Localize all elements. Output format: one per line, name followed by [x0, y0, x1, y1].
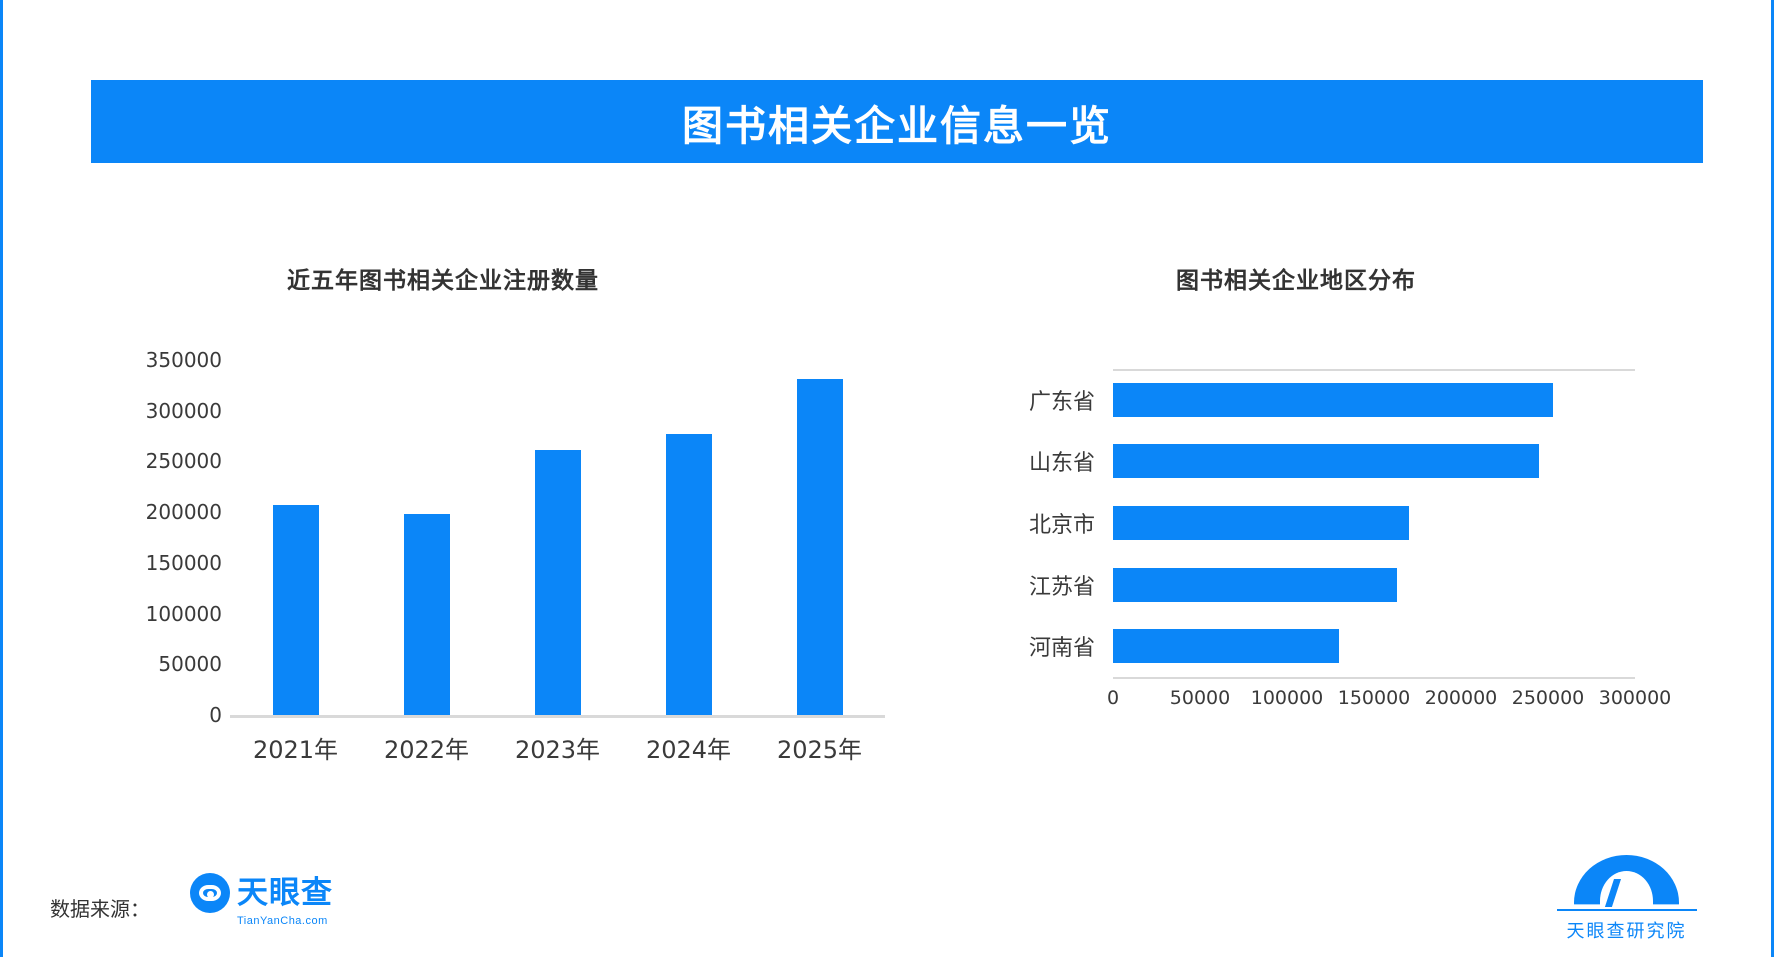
registrations-y-tick: 0	[209, 703, 222, 727]
region-category-label: 江苏省	[985, 569, 1113, 601]
registrations-bar-slot	[625, 360, 753, 715]
region-x-tick: 50000	[1170, 687, 1230, 709]
region-chart-title: 图书相关企业地区分布	[1176, 261, 1416, 295]
region-bar	[1113, 444, 1539, 478]
page-title: 图书相关企业信息一览	[682, 92, 1112, 152]
region-category-label: 北京市	[985, 507, 1113, 539]
region-x-tick: 100000	[1251, 687, 1324, 709]
region-category-label: 广东省	[985, 384, 1113, 416]
region-x-tick: 150000	[1338, 687, 1411, 709]
region-x-tick: 200000	[1425, 687, 1498, 709]
region-x-axis-line	[1113, 677, 1635, 679]
registrations-bar	[273, 505, 319, 715]
region-bar	[1113, 383, 1553, 417]
region-bar-row: 山东省	[985, 432, 1635, 490]
registrations-x-tick: 2022年	[363, 730, 491, 765]
region-category-label: 山东省	[985, 445, 1113, 477]
registrations-bars	[230, 360, 885, 715]
registrations-bar-slot	[494, 360, 622, 715]
registrations-bar-chart: 3500003000002500002000001500001000005000…	[130, 350, 890, 770]
title-banner: 图书相关企业信息一览	[91, 80, 1703, 163]
institute-name: 天眼查研究院	[1567, 917, 1687, 943]
infographic-page: 图书相关企业信息一览 近五年图书相关企业注册数量 350000300000250…	[0, 0, 1774, 957]
left-edge-accent	[0, 0, 3, 957]
region-bars: 广东省山东省北京市江苏省河南省	[985, 369, 1635, 677]
region-bar-chart: 广东省山东省北京市江苏省河南省 050000100000150000200000…	[985, 355, 1685, 755]
region-x-tick: 0	[1107, 687, 1119, 709]
tianyancha-eye-icon	[190, 873, 230, 913]
registrations-bar-slot	[363, 360, 491, 715]
registrations-x-tick: 2021年	[232, 730, 360, 765]
region-bar	[1113, 629, 1339, 663]
registrations-x-tick: 2024年	[625, 730, 753, 765]
tianyancha-logo: 天眼查 TianYanCha.com	[190, 872, 355, 928]
institute-divider	[1557, 909, 1697, 911]
region-bar-row: 广东省	[985, 371, 1635, 429]
region-x-tick: 250000	[1512, 687, 1585, 709]
registrations-x-axis-labels: 2021年2022年2023年2024年2025年	[230, 730, 885, 765]
tianyancha-url: TianYanCha.com	[237, 915, 355, 927]
data-source-label: 数据来源：	[50, 893, 150, 922]
region-x-tick: 300000	[1599, 687, 1672, 709]
registrations-x-axis-line	[230, 715, 885, 718]
tianyancha-name: 天眼查	[237, 878, 333, 909]
registrations-bar	[404, 514, 450, 715]
registrations-y-tick: 300000	[146, 399, 222, 423]
region-bar	[1113, 568, 1397, 602]
region-bar-row: 河南省	[985, 617, 1635, 675]
registrations-x-tick: 2023年	[494, 730, 622, 765]
registrations-bar	[666, 434, 712, 715]
institute-emblem-icon	[1574, 855, 1679, 907]
registrations-bar	[535, 450, 581, 715]
registrations-y-tick: 250000	[146, 449, 222, 473]
registrations-x-tick: 2025年	[756, 730, 884, 765]
region-bar	[1113, 506, 1409, 540]
registrations-bar-slot	[756, 360, 884, 715]
region-x-axis-labels: 050000100000150000200000250000300000	[1113, 687, 1635, 717]
region-bar-row: 北京市	[985, 494, 1635, 552]
registrations-y-tick: 350000	[146, 348, 222, 372]
registrations-bar-slot	[232, 360, 360, 715]
registrations-y-tick: 50000	[158, 652, 222, 676]
region-bar-row: 江苏省	[985, 556, 1635, 614]
registrations-chart-title: 近五年图书相关企业注册数量	[287, 261, 599, 295]
registrations-bar	[797, 379, 843, 715]
registrations-y-tick: 200000	[146, 500, 222, 524]
region-category-label: 河南省	[985, 630, 1113, 662]
tianyancha-institute-logo: 天眼查研究院	[1544, 855, 1709, 945]
registrations-y-tick: 150000	[146, 551, 222, 575]
registrations-y-tick: 100000	[146, 602, 222, 626]
